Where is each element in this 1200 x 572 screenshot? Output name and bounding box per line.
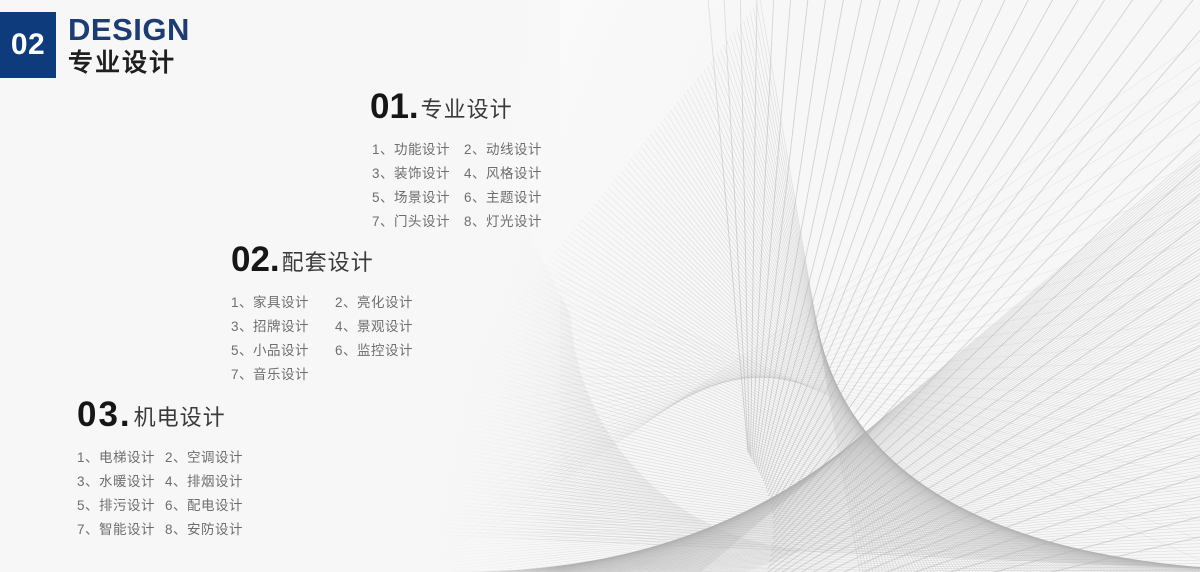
list-item: 5、场景设计 [372,186,450,210]
section-number-text: 02 [11,28,45,62]
list-item: 1、功能设计 [372,138,450,162]
section-title-02: 配套设计 [282,249,374,277]
section-number-badge: 02 [0,12,56,78]
list-item: 1、电梯设计 [77,446,155,470]
section-block-01: 01. 专业设计 1、功能设计 2、动线设计 3、装饰设计 4、风格设计 5、场… [370,90,542,234]
section-block-02: 02. 配套设计 1、家具设计 2、亮化设计 3、招牌设计 4、景观设计 5、小… [231,243,413,387]
list-item: 4、景观设计 [335,315,413,339]
list-item: 3、水暖设计 [77,470,155,494]
list-item: 6、配电设计 [165,494,243,518]
list-item: 3、装饰设计 [372,162,450,186]
list-item: 2、动线设计 [464,138,542,162]
list-item: 7、音乐设计 [231,363,309,387]
list-item: 3、招牌设计 [231,315,309,339]
section-heading: 02. 配套设计 [231,243,413,277]
list-item: 5、排污设计 [77,494,155,518]
list-item: 4、排烟设计 [165,470,243,494]
list-item: 2、亮化设计 [335,291,413,315]
list-item: 7、门头设计 [372,210,450,234]
section-title-03: 机电设计 [134,404,226,432]
list-item: 7、智能设计 [77,518,155,542]
slide-canvas: 02 DESIGN 专业设计 01. 专业设计 1、功能设计 2、动线设计 3、… [0,0,1200,572]
section-heading: 03. 机电设计 [77,398,243,432]
list-item: 4、风格设计 [464,162,542,186]
section-index-03: 03. [77,398,132,432]
section-heading: 01. 专业设计 [370,90,542,124]
page-title-cn: 专业设计 [68,48,190,78]
header-title-group: DESIGN 专业设计 [68,14,190,78]
section-item-list-01: 1、功能设计 2、动线设计 3、装饰设计 4、风格设计 5、场景设计 6、主题设… [370,138,542,234]
list-item: 2、空调设计 [165,446,243,470]
list-item: 8、灯光设计 [464,210,542,234]
section-index-02: 02. [231,243,280,277]
section-block-03: 03. 机电设计 1、电梯设计 2、空调设计 3、水暖设计 4、排烟设计 5、排… [77,398,243,542]
section-index-01: 01. [370,90,419,124]
list-item: 5、小品设计 [231,339,309,363]
section-item-list-02: 1、家具设计 2、亮化设计 3、招牌设计 4、景观设计 5、小品设计 6、监控设… [231,291,413,387]
list-item: 1、家具设计 [231,291,309,315]
section-item-list-03: 1、电梯设计 2、空调设计 3、水暖设计 4、排烟设计 5、排污设计 6、配电设… [77,446,243,542]
list-item: 8、安防设计 [165,518,243,542]
page-title-en: DESIGN [68,14,190,46]
list-item: 6、主题设计 [464,186,542,210]
section-title-01: 专业设计 [421,96,513,124]
list-item: 6、监控设计 [335,339,413,363]
